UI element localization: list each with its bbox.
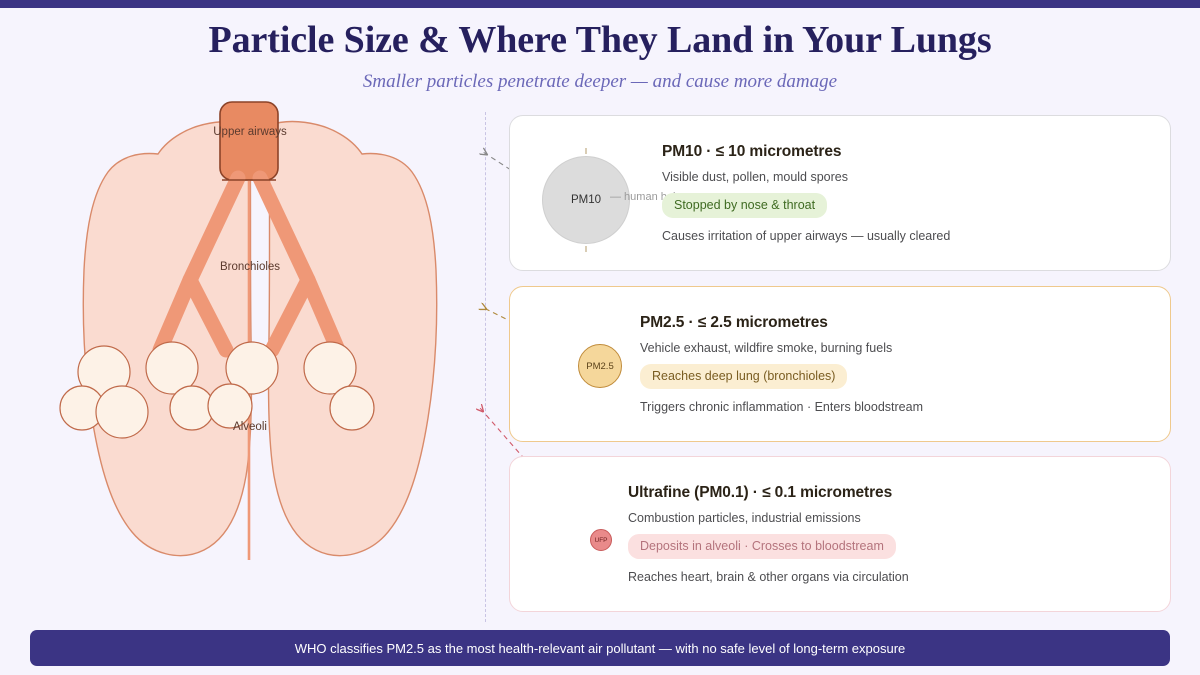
- card-source: Visible dust, pollen, mould spores: [662, 170, 1152, 184]
- footer-text: WHO classifies PM2.5 as the most health-…: [295, 641, 906, 656]
- page-subtitle: Smaller particles penetrate deeper — and…: [0, 71, 1200, 93]
- card-source: Vehicle exhaust, wildfire smoke, burning…: [640, 341, 1152, 355]
- label-bronchioles: Bronchioles: [220, 261, 280, 273]
- label-upper-airways: Upper airways: [213, 126, 287, 138]
- label-alveoli: Alveoli: [233, 421, 267, 433]
- lung-diagram: Upper airways Bronchioles Alveoli: [40, 100, 480, 580]
- trachea-shape: [220, 102, 278, 180]
- footer-banner: WHO classifies PM2.5 as the most health-…: [30, 630, 1170, 666]
- infographic-page: Particle Size & Where They Land in Your …: [0, 0, 1200, 675]
- card-source: Combustion particles, industrial emissio…: [628, 511, 1152, 525]
- card-title: Ultrafine (PM0.1) · ≤ 0.1 micrometres: [628, 484, 1152, 502]
- status-badge: Reaches deep lung (bronchioles): [640, 364, 847, 389]
- card-effect: Reaches heart, brain & other organs via …: [628, 570, 1152, 584]
- header: Particle Size & Where They Land in Your …: [0, 18, 1200, 93]
- status-badge: Deposits in alveoli · Crosses to bloodst…: [628, 534, 896, 559]
- section-divider: [485, 112, 486, 622]
- top-accent-bar: [0, 0, 1200, 8]
- right-lung-shape: [269, 122, 437, 556]
- card-pm10[interactable]: PM10 — human hair PM10 · ≤ 10 micrometre…: [509, 115, 1171, 271]
- card-title: PM10 · ≤ 10 micrometres: [662, 143, 1152, 161]
- card-pm25[interactable]: PM2.5 PM2.5 · ≤ 2.5 micrometres Vehicle …: [509, 286, 1171, 442]
- particle-dot-ufp: UFP: [590, 529, 612, 551]
- particle-dot-pm25: PM2.5: [578, 344, 622, 388]
- status-badge: Stopped by nose & throat: [662, 193, 827, 218]
- card-effect: Causes irritation of upper airways — usu…: [662, 229, 1152, 243]
- card-ufp[interactable]: UFP Ultrafine (PM0.1) · ≤ 0.1 micrometre…: [509, 456, 1171, 612]
- card-effect: Triggers chronic inflammation · Enters b…: [640, 400, 1152, 414]
- page-title: Particle Size & Where They Land in Your …: [0, 18, 1200, 63]
- card-title: PM2.5 · ≤ 2.5 micrometres: [640, 314, 1152, 332]
